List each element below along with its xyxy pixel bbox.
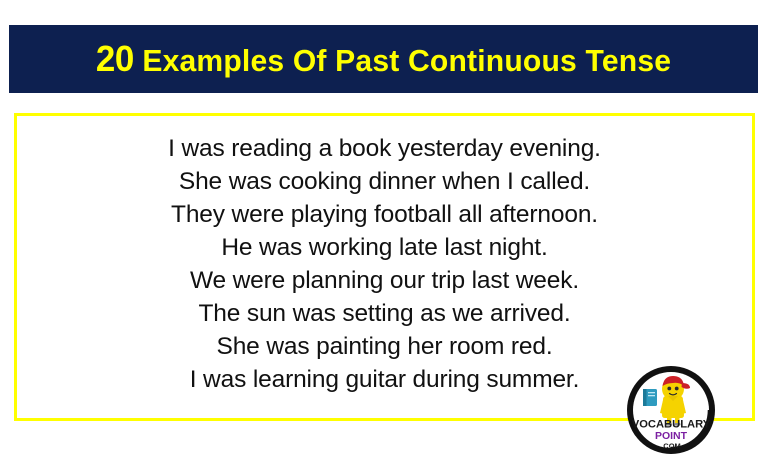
list-item: We were planning our trip last week. bbox=[17, 264, 752, 297]
title-rest: Examples Of Past Continuous Tense bbox=[134, 43, 671, 78]
content-box: I was reading a book yesterday evening. … bbox=[14, 113, 755, 421]
slide-canvas: 20 Examples Of Past Continuous Tense I w… bbox=[0, 0, 768, 432]
logo-icon: VOCABULARY POINT .COM bbox=[624, 363, 718, 457]
list-item: He was working late last night. bbox=[17, 231, 752, 264]
title-count: 20 bbox=[96, 38, 134, 79]
list-item: The sun was setting as we arrived. bbox=[17, 297, 752, 330]
logo-line-vocabulary: VOCABULARY bbox=[632, 419, 711, 431]
list-item: She was painting her room red. bbox=[17, 330, 752, 363]
vocabulary-point-logo: VOCABULARY POINT .COM bbox=[624, 363, 718, 457]
list-item: I was reading a book yesterday evening. bbox=[17, 132, 752, 165]
book-icon bbox=[643, 389, 657, 406]
page-title: 20 Examples Of Past Continuous Tense bbox=[96, 41, 671, 77]
list-item: They were playing football all afternoon… bbox=[17, 198, 752, 231]
sentence-list: I was reading a book yesterday evening. … bbox=[17, 132, 752, 396]
title-banner: 20 Examples Of Past Continuous Tense bbox=[9, 25, 758, 93]
logo-line-dotcom: .COM bbox=[661, 442, 681, 451]
list-item: She was cooking dinner when I called. bbox=[17, 165, 752, 198]
